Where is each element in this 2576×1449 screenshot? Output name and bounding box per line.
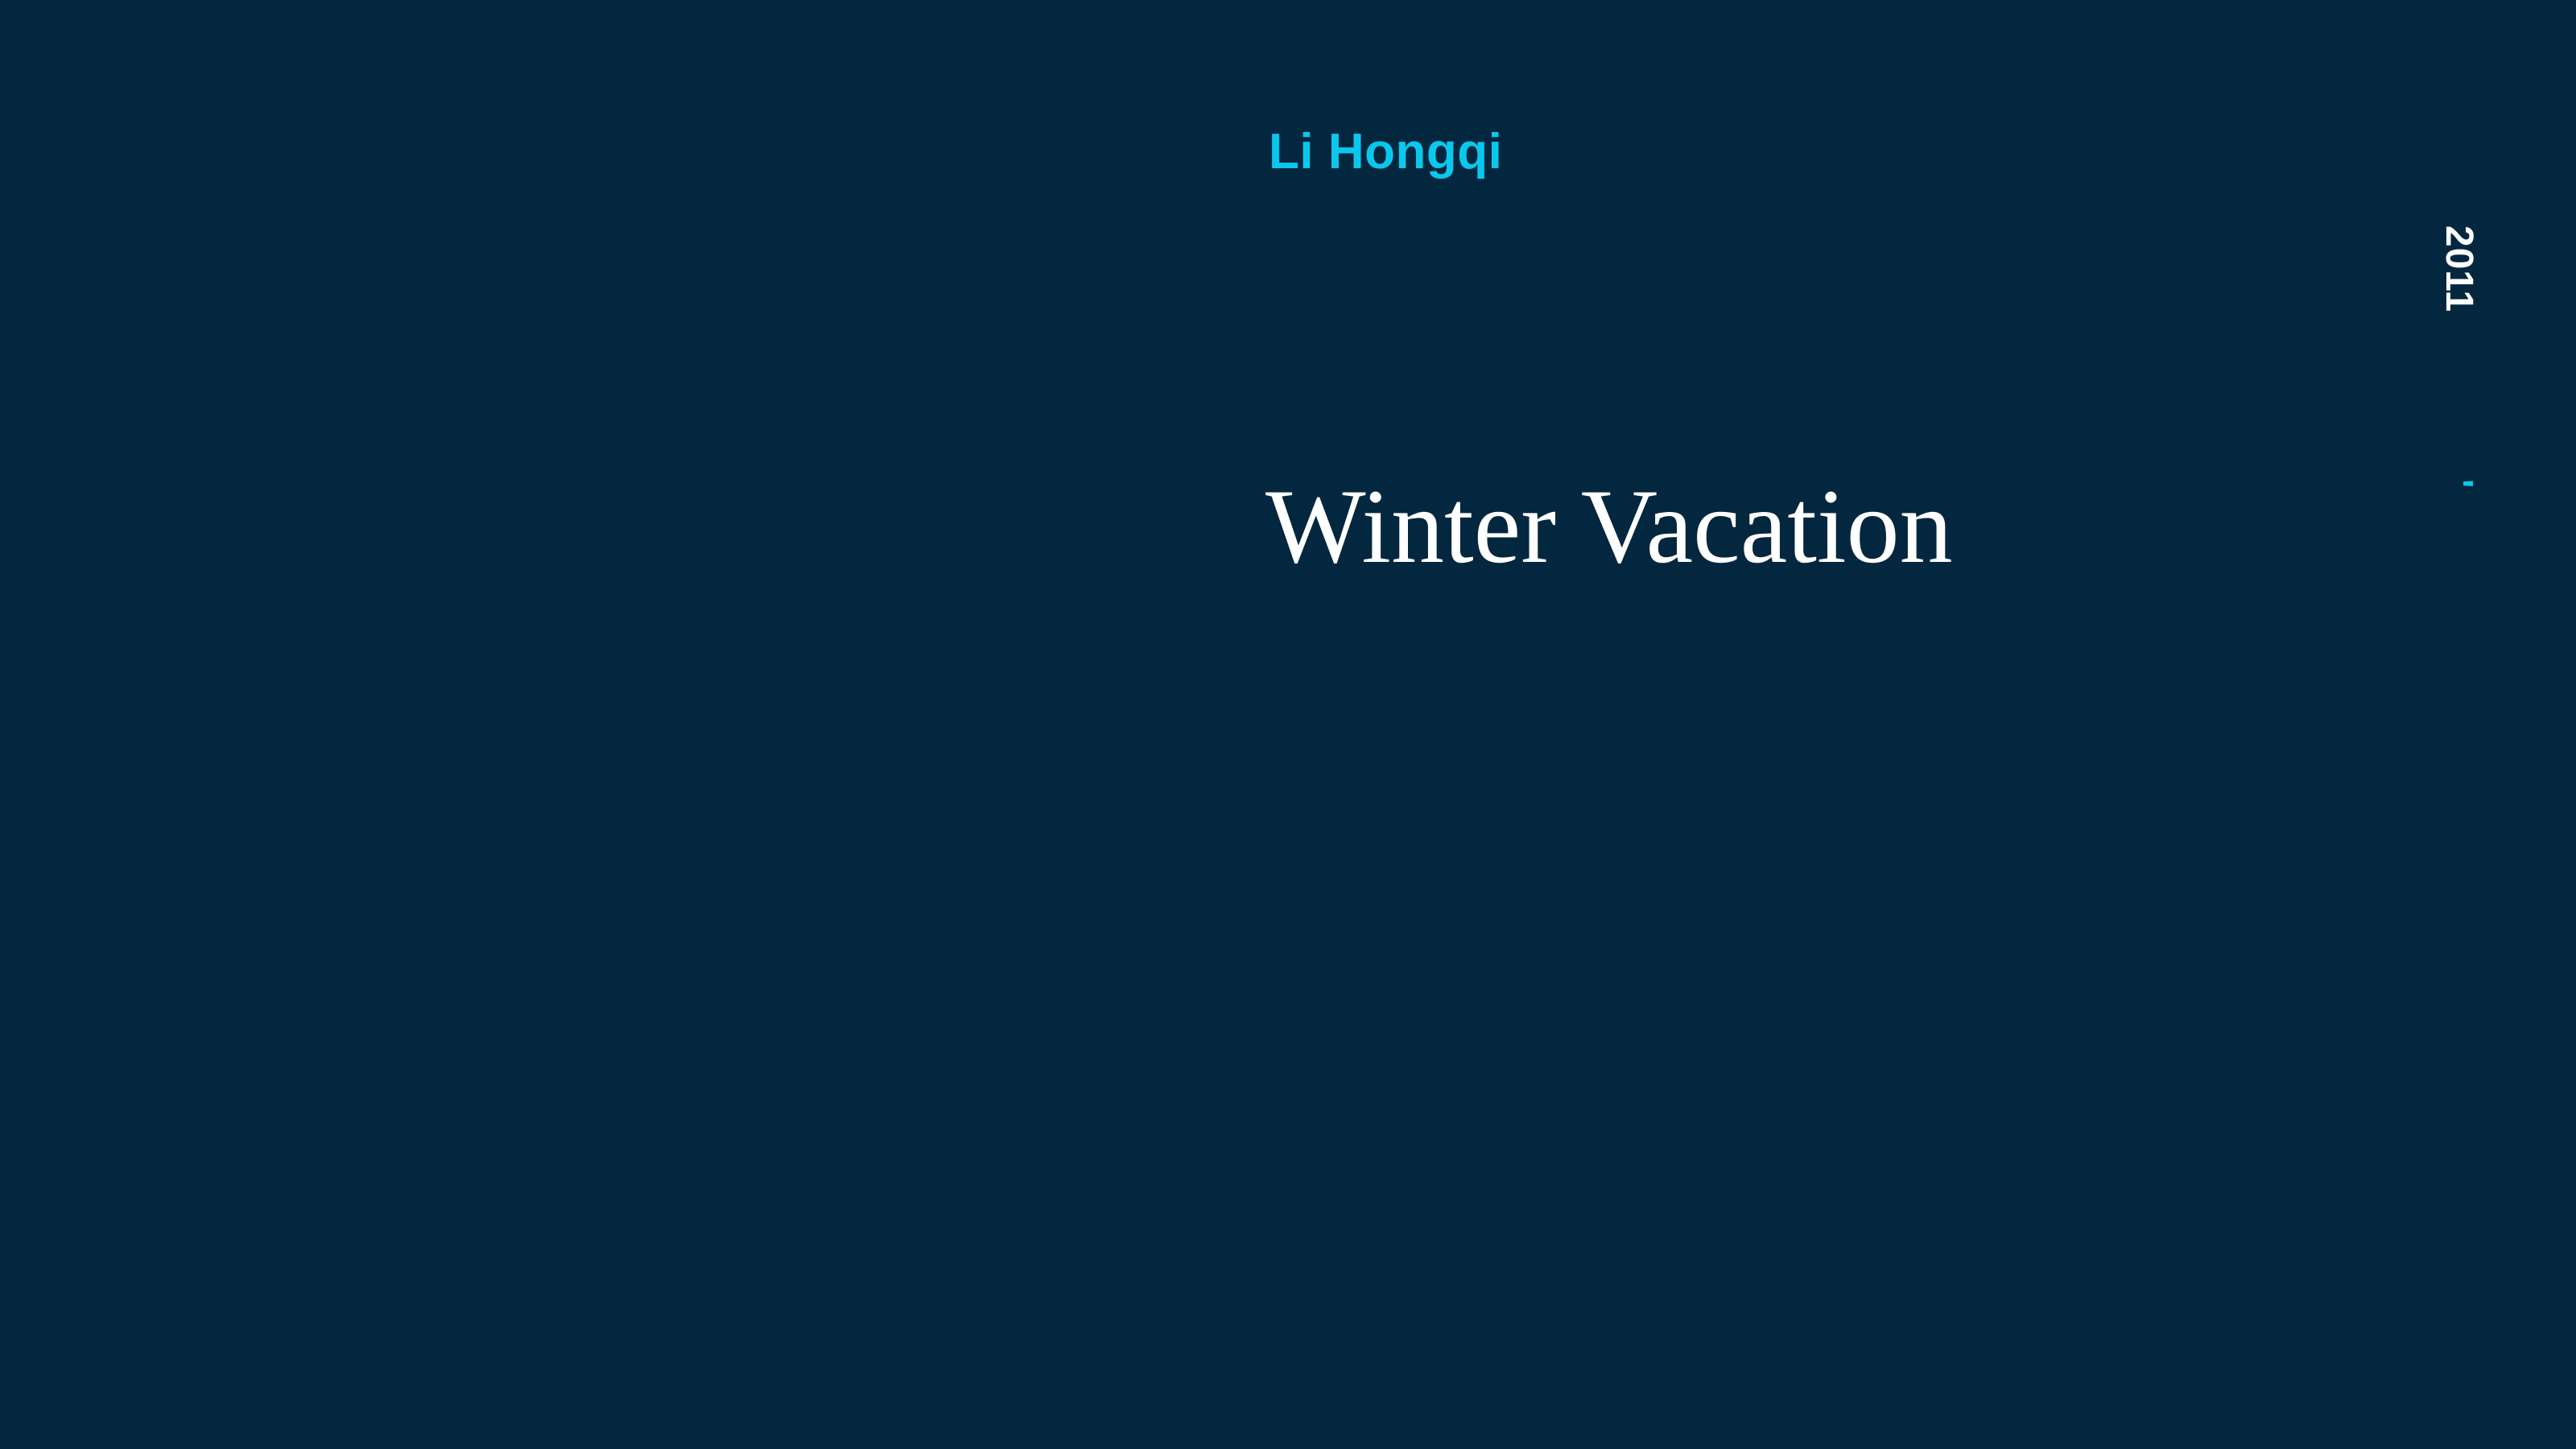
film-title: Winter Vacation (1265, 473, 1953, 580)
side-rail: 2011 ' (2434, 225, 2483, 547)
poster-canvas: Li Hongqi Winter Vacation 2011 ' (0, 0, 2576, 1449)
director-credit: Li Hongqi (1269, 127, 1502, 177)
release-year: 2011 (2434, 225, 2483, 312)
rail-accent-mark: ' (2434, 479, 2483, 488)
